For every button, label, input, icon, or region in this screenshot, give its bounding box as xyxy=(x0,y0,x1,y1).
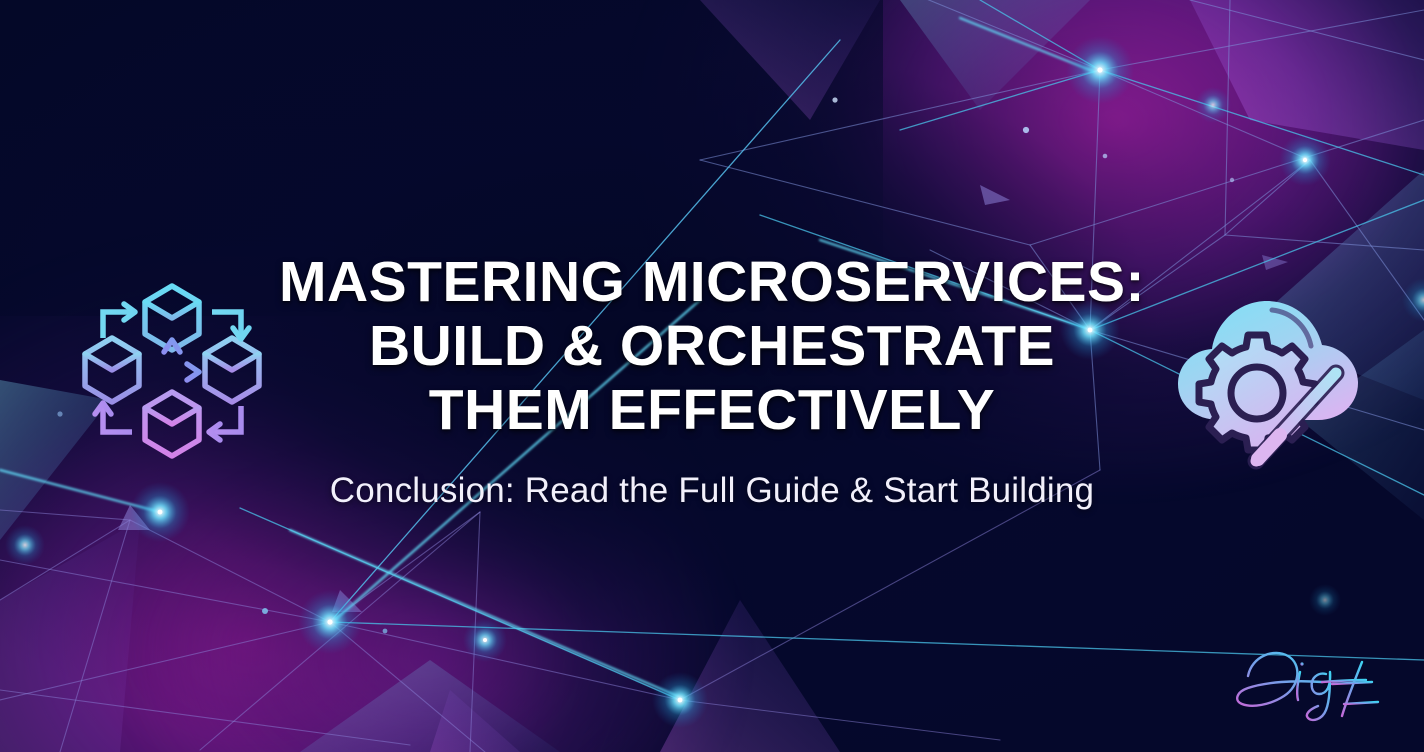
subtitle: Conclusion: Read the Full Guide & Start … xyxy=(330,471,1094,511)
digt-logo[interactable] xyxy=(1226,638,1396,730)
headline-line-1: MASTERING MICROSERVICES: xyxy=(279,251,1145,315)
headline-line-3: THEM EFFECTIVELY xyxy=(279,379,1145,443)
page-title: MASTERING MICROSERVICES: BUILD & ORCHEST… xyxy=(279,251,1145,442)
banner-content: MASTERING MICROSERVICES: BUILD & ORCHEST… xyxy=(0,0,1424,752)
headline-line-2: BUILD & ORCHESTRATE xyxy=(279,315,1145,379)
promo-banner: MASTERING MICROSERVICES: BUILD & ORCHEST… xyxy=(0,0,1424,752)
